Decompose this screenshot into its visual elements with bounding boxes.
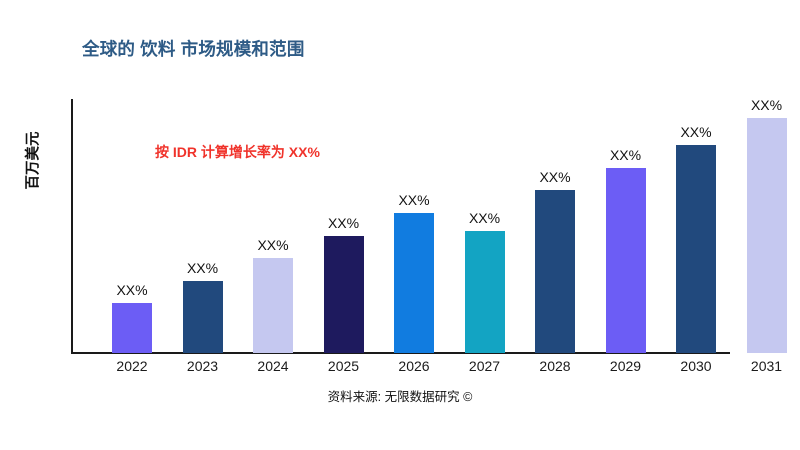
x-axis-tick-label: 2029: [590, 358, 662, 374]
bar-group[interactable]: XX%: [660, 99, 732, 353]
bar-value-label: XX%: [308, 215, 380, 231]
bar-value-label: XX%: [660, 124, 732, 140]
x-axis-tick-label: 2022: [96, 358, 168, 374]
bar-group[interactable]: XX%: [167, 99, 239, 353]
x-axis-tick-label: 2023: [167, 358, 239, 374]
bar-value-label: XX%: [237, 237, 309, 253]
bar-group[interactable]: XX%: [731, 99, 800, 353]
bar[interactable]: [183, 281, 223, 353]
bar-value-label: XX%: [449, 210, 521, 226]
chart-title: 全球的 饮料 市场规模和范围: [82, 36, 305, 61]
source-note: 资料来源: 无限数据研究 ©: [0, 386, 800, 405]
bar[interactable]: [112, 303, 152, 353]
bar-group[interactable]: XX%: [237, 99, 309, 353]
bar-value-label: XX%: [590, 147, 662, 163]
bar-value-label: XX%: [96, 282, 168, 298]
x-axis-tick-label: 2027: [449, 358, 521, 374]
bar[interactable]: [747, 118, 787, 353]
bar-group[interactable]: XX%: [590, 99, 662, 353]
x-axis-tick-label: 2026: [378, 358, 450, 374]
x-axis-tick-label: 2031: [731, 358, 800, 374]
bar-value-label: XX%: [378, 192, 450, 208]
bar[interactable]: [606, 168, 646, 353]
x-axis-tick-label: 2030: [660, 358, 732, 374]
chart-figure: 全球的 饮料 市场规模和范围 百万美元 按 IDR 计算增长率为 XX% XX%…: [0, 0, 800, 450]
y-axis-title: 百万美元: [22, 111, 43, 211]
bar-value-label: XX%: [731, 97, 800, 113]
bar[interactable]: [535, 190, 575, 353]
bar[interactable]: [253, 258, 293, 353]
x-axis-tick-label: 2028: [519, 358, 591, 374]
bar-value-label: XX%: [167, 260, 239, 276]
bar-group[interactable]: XX%: [519, 99, 591, 353]
bar-value-label: XX%: [519, 169, 591, 185]
bar-group[interactable]: XX%: [96, 99, 168, 353]
plot-area: XX%XX%XX%XX%XX%XX%XX%XX%XX%XX%: [71, 99, 800, 353]
x-axis-tick-label: 2024: [237, 358, 309, 374]
bar-group[interactable]: XX%: [378, 99, 450, 353]
bar[interactable]: [394, 213, 434, 353]
bar[interactable]: [676, 145, 716, 353]
bar[interactable]: [465, 231, 505, 353]
bar[interactable]: [324, 236, 364, 353]
bar-group[interactable]: XX%: [449, 99, 521, 353]
x-axis-tick-label: 2025: [308, 358, 380, 374]
bar-group[interactable]: XX%: [308, 99, 380, 353]
